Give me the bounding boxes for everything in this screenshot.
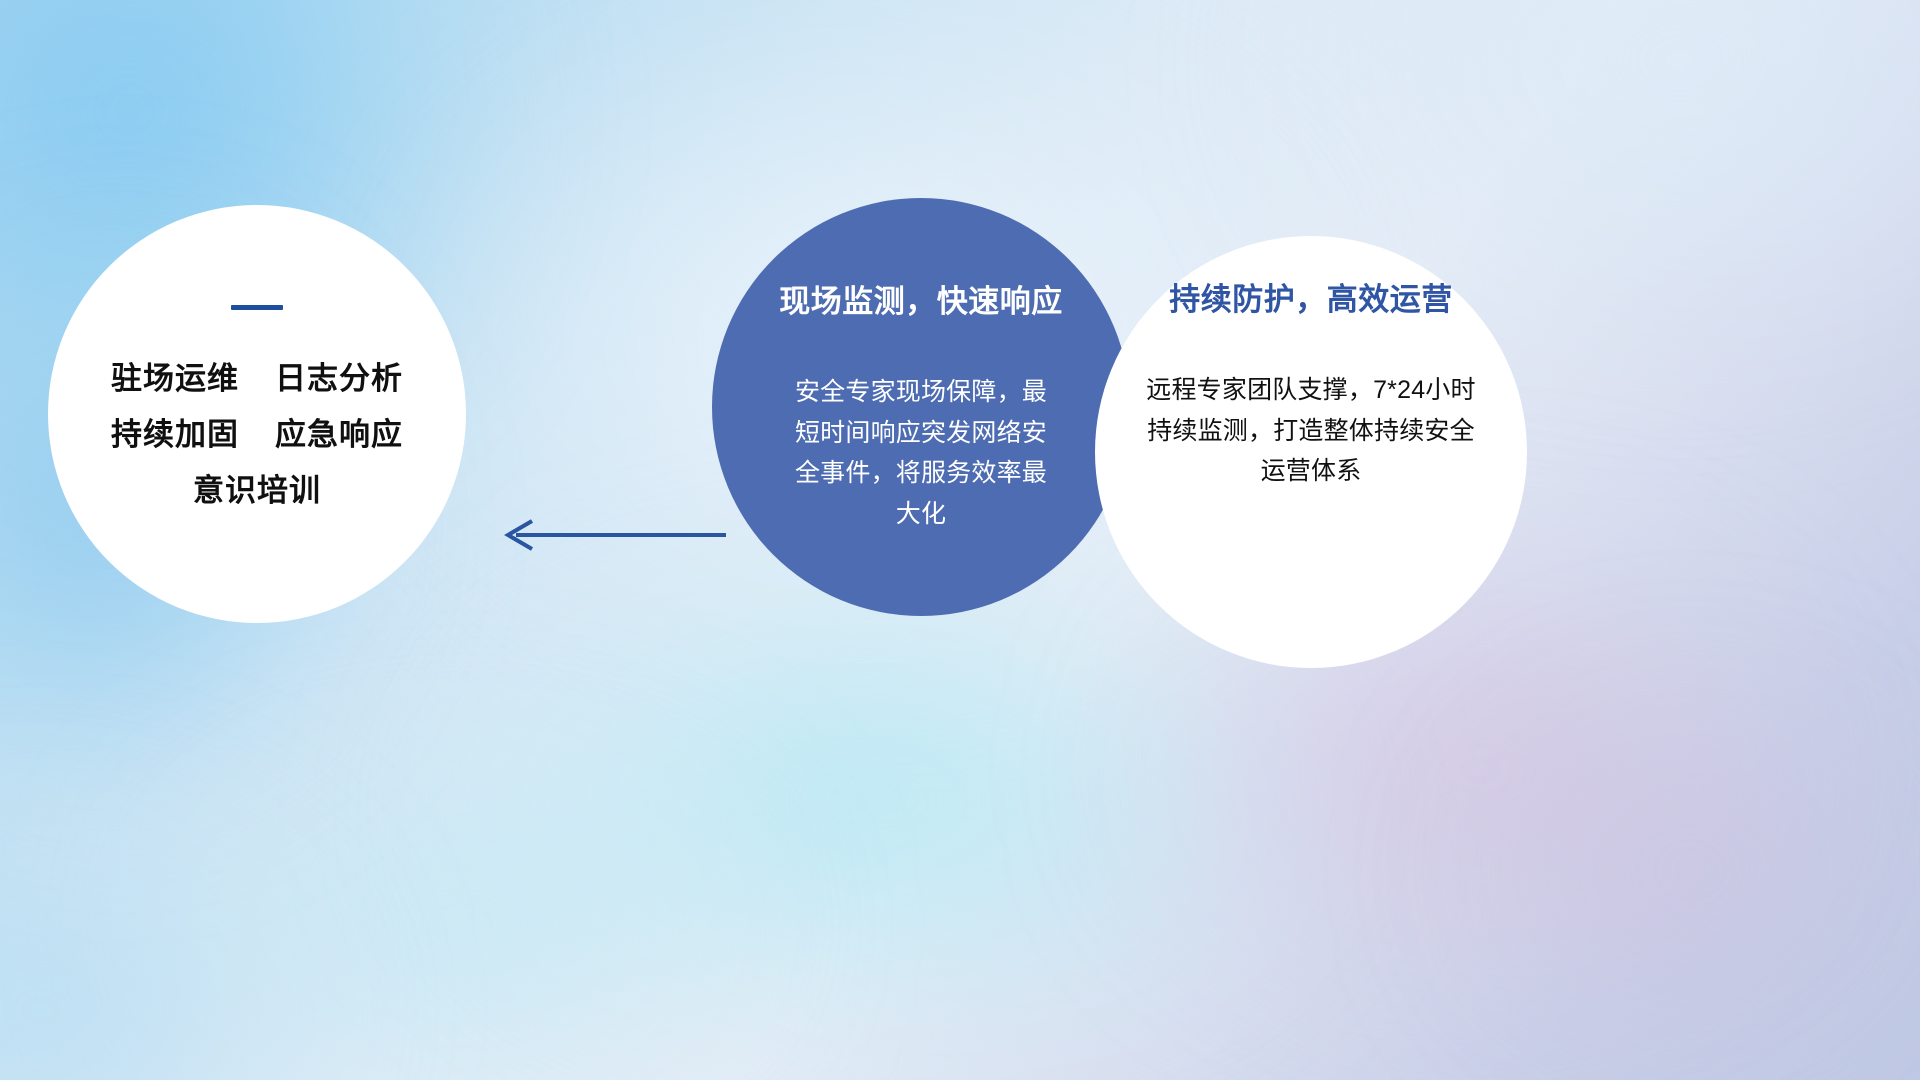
service-keyword-list: 驻场运维 日志分析 持续加固 应急响应 意识培训 xyxy=(111,362,403,508)
continuous-protection-body: 远程专家团队支撑，7*24小时持续监测，打造整体持续安全运营体系 xyxy=(1136,370,1486,492)
driver-services-circle[interactable]: 驻场运维 日志分析 持续加固 应急响应 意识培训 xyxy=(48,205,466,623)
slide-canvas: 现场监测，快速响应 安全专家现场保障，最短时间响应突发网络安全事件，将服务效率最… xyxy=(0,0,1920,1080)
service-keyword: 持续加固 xyxy=(111,418,239,452)
service-keyword: 日志分析 xyxy=(275,362,403,396)
onsite-monitoring-body: 安全专家现场保障，最短时间响应突发网络安全事件，将服务效率最大化 xyxy=(785,372,1057,534)
service-keyword: 驻场运维 xyxy=(111,362,239,396)
service-keyword-row: 驻场运维 日志分析 xyxy=(111,362,403,396)
onsite-monitoring-title: 现场监测，快速响应 xyxy=(779,283,1063,320)
continuous-protection-title: 持续防护，高效运营 xyxy=(1169,281,1453,318)
service-keyword: 应急响应 xyxy=(275,418,403,452)
divider-dash-icon xyxy=(231,305,283,310)
service-keyword: 意识培训 xyxy=(193,474,321,508)
continuous-protection-circle[interactable]: 持续防护，高效运营 远程专家团队支撑，7*24小时持续监测，打造整体持续安全运营… xyxy=(1095,236,1527,668)
flow-arrow-left xyxy=(496,512,726,558)
onsite-monitoring-circle[interactable]: 现场监测，快速响应 安全专家现场保障，最短时间响应突发网络安全事件，将服务效率最… xyxy=(712,198,1130,616)
service-keyword-row: 持续加固 应急响应 xyxy=(111,418,403,452)
service-keyword-row: 意识培训 xyxy=(193,474,321,508)
arrow-left-icon xyxy=(496,512,726,558)
